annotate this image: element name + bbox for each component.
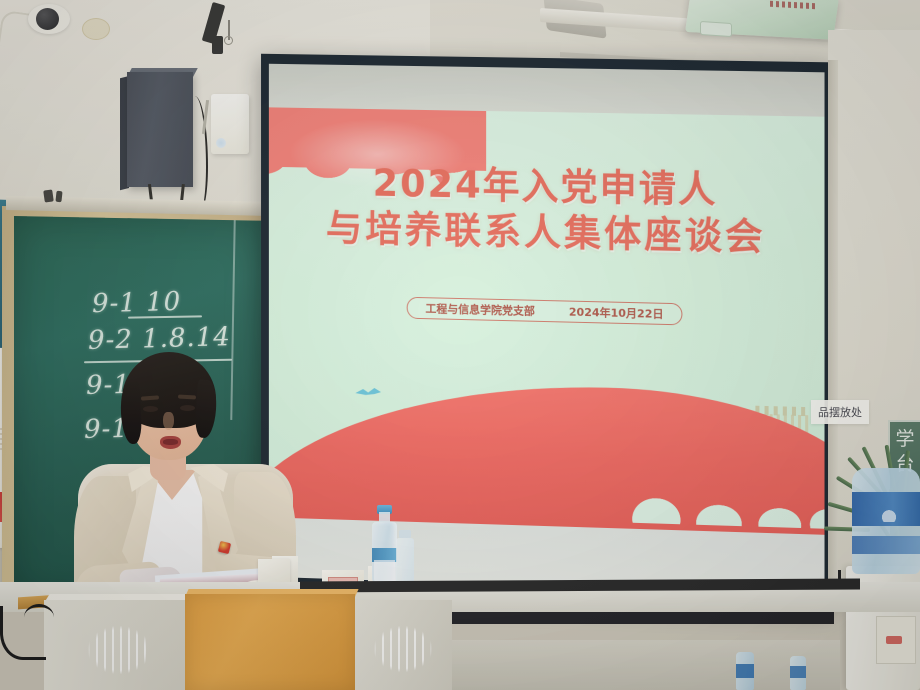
dispenser-tap-icon[interactable]: [886, 636, 902, 644]
podium-wood-front: [185, 594, 355, 690]
desk-bottle-2: [396, 538, 414, 586]
slide-title: 2024年入党申请人 与培养联系人集体座谈会: [269, 159, 825, 262]
slide-cloud-scallop: [632, 471, 824, 529]
slide-subtitle-pill: 工程与信息学院党支部 2024年10月22日: [407, 297, 683, 326]
floor-bottle-right-label: [790, 666, 806, 678]
mouth-inner: [163, 439, 178, 445]
chalk-rail-clip: [43, 189, 54, 202]
chalk-rail-clip-2: [55, 191, 62, 203]
presentation-slide: 2024年入党申请人 与培养联系人集体座谈会 工程与信息学院党支部 2024年1…: [269, 107, 825, 534]
hair-side-left: [119, 382, 142, 445]
bird-icon: [355, 385, 381, 400]
chalk-line-2: 9-2 1.8.14: [88, 322, 232, 356]
floor-strip: [440, 640, 840, 690]
speaker-icon: [127, 72, 193, 187]
slide-organization: 工程与信息学院党支部: [425, 300, 534, 319]
speaker-grille-right-icon: [374, 626, 432, 672]
speaker-grille-left-icon: [88, 626, 150, 674]
water-bottle-label-bottom: [852, 536, 920, 554]
projection-screen: 2024年入党申请人 与培养联系人集体座谈会 工程与信息学院党支部 2024年1…: [269, 64, 825, 596]
white-sign-text: 品摆放处: [818, 404, 862, 420]
eye-right: [180, 405, 195, 411]
floor-bottle-left-label: [736, 664, 754, 678]
bracket-ring-icon: [224, 36, 233, 45]
projection-screen-frame: 2024年入党申请人 与培养联系人集体座谈会 工程与信息学院党支部 2024年1…: [261, 54, 833, 608]
chalk-line-1: 9-1 10: [92, 287, 182, 319]
eyebrow-right: [178, 395, 196, 400]
nose: [163, 412, 174, 430]
desk-cable: [0, 606, 46, 660]
desk-bottle-2-cap: [399, 530, 411, 538]
white-wall-sign: 品摆放处: [811, 400, 869, 424]
wall-bracket-foot: [212, 36, 223, 54]
eye-left: [143, 406, 158, 412]
classroom-photo: 9-1 10 9-2 1.8.14 9-1 1 9-1 1: [0, 0, 920, 690]
wall-panel-led-icon: [216, 138, 226, 148]
wall-stamp-mark: [82, 18, 110, 40]
projector-lens-icon: [700, 21, 732, 37]
background-table-edge: [452, 612, 834, 624]
slide-title-line-2: 与培养联系人集体座谈会: [269, 204, 825, 262]
hair-side-right: [194, 379, 218, 438]
slide-date: 2024年10月22日: [569, 304, 664, 322]
smoke-detector-icon: [36, 8, 59, 30]
